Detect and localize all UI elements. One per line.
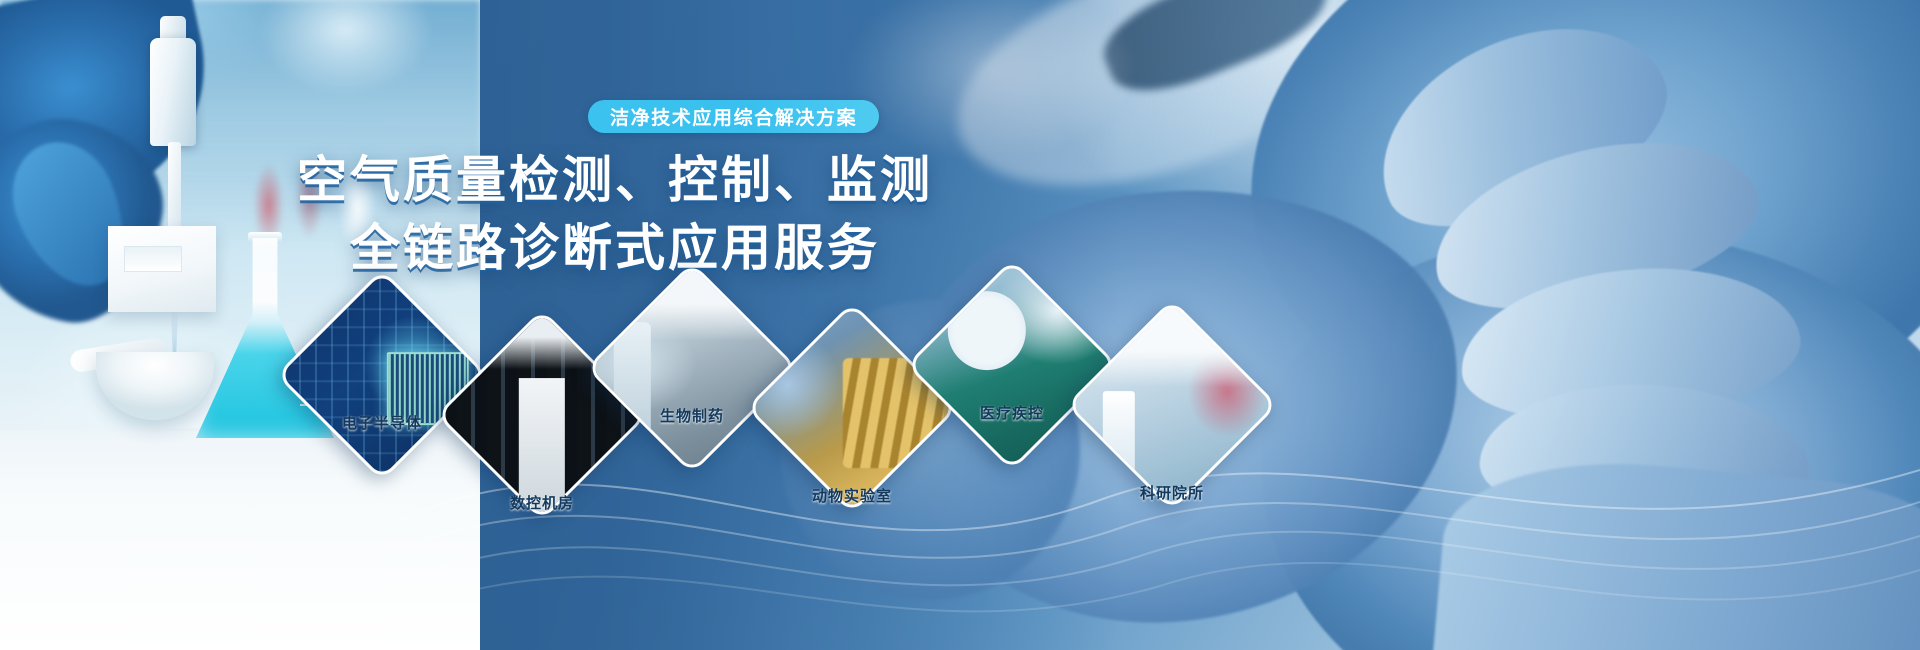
semiconductor-circuit-board-photo — [276, 269, 488, 481]
industry-card-animal-lab[interactable]: 动物实验室 — [777, 333, 927, 483]
card-label: 科研院所 — [1140, 482, 1204, 503]
industry-card-research[interactable]: 科研院所 — [1097, 330, 1247, 480]
diamond-frame — [276, 269, 488, 481]
diamond-frame — [906, 259, 1118, 471]
hero-banner: 洁净技术应用综合解决方案 空气质量检测、控制、监测 全链路诊断式应用服务 电子半… — [0, 0, 1920, 650]
research-institute-lab-photo — [1066, 299, 1278, 511]
card-label: 生物制药 — [660, 405, 724, 426]
biopharmaceutical-cleanroom-photo — [586, 262, 798, 474]
card-label: 动物实验室 — [812, 485, 892, 506]
industry-card-semiconductor[interactable]: 电子半导体 — [307, 300, 457, 450]
diamond-frame — [746, 302, 958, 514]
diamond-frame — [1066, 299, 1278, 511]
industry-card-medical[interactable]: 医疗疾控 — [937, 290, 1087, 440]
diamond-frame — [586, 262, 798, 474]
industry-card-row: 电子半导体 数控机房 生物制药 动物实验室 医疗疾控 — [0, 0, 1920, 650]
industry-card-biopharma[interactable]: 生物制药 — [617, 293, 767, 443]
card-label: 医疗疾控 — [980, 402, 1044, 423]
medical-surgery-photo — [906, 259, 1118, 471]
card-label: 数控机房 — [510, 492, 574, 513]
animal-laboratory-photo — [746, 302, 958, 514]
card-label: 电子半导体 — [342, 412, 422, 433]
